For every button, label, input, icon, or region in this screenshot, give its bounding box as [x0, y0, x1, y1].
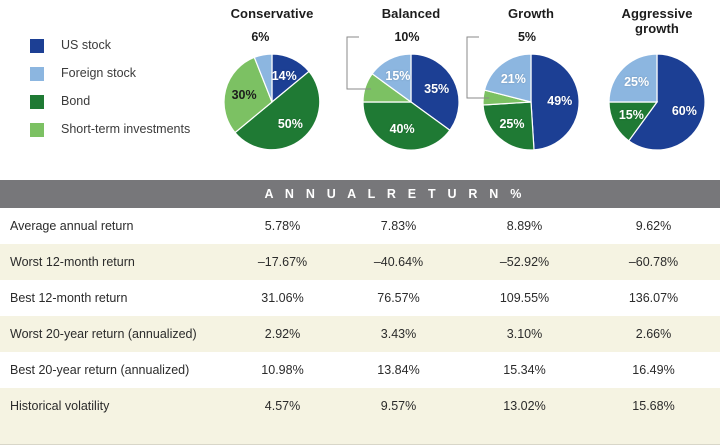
pie-slice-label-2-1: 35%: [424, 82, 449, 96]
legend-item-short_term: Short-term investments: [30, 122, 205, 140]
table-cell-4-2: 3.43%: [335, 327, 462, 341]
table-body: Average annual return5.78%7.83%8.89%9.62…: [0, 208, 720, 424]
pie-slice-label-2-3: 10%: [394, 30, 419, 44]
pie-svg-4: [607, 52, 707, 152]
table-cell-1-1: 5.78%: [230, 219, 335, 233]
table-row-label: Historical volatility: [0, 399, 230, 413]
pie-slice-label-1-4: 6%: [251, 30, 269, 44]
table-cell-1-3: 8.89%: [462, 219, 587, 233]
pie-slice-label-4-3: 25%: [624, 75, 649, 89]
pie-title-1: Conservative: [213, 0, 331, 21]
table-cell-2-2: –40.64%: [335, 255, 462, 269]
pie-slice-label-2-2: 40%: [390, 122, 415, 136]
table-cell-4-1: 2.92%: [230, 327, 335, 341]
table-cell-6-4: 15.68%: [587, 399, 720, 413]
legend-item-us_stock: US stock: [30, 38, 205, 56]
table-row-label: Average annual return: [0, 219, 230, 233]
table-cell-3-2: 76.57%: [335, 291, 462, 305]
table-row-label: Worst 20-year return (annualized): [0, 327, 230, 341]
pie-slice-label-4-1: 60%: [672, 104, 697, 118]
table-cell-6-2: 9.57%: [335, 399, 462, 413]
table-row: Best 12-month return31.06%76.57%109.55%1…: [0, 280, 720, 316]
table-cell-3-4: 136.07%: [587, 291, 720, 305]
legend-label-us_stock: US stock: [61, 38, 111, 53]
legend-swatch-bond: [30, 95, 44, 109]
asset-class-legend: US stockForeign stockBondShort-term inve…: [30, 38, 205, 150]
pie-chart-4: Aggressive growth60%15%25%: [598, 0, 716, 36]
table-cell-5-1: 10.98%: [230, 363, 335, 377]
legend-swatch-short_term: [30, 123, 44, 137]
pie-canvas-3: 49%25%5%21%: [481, 52, 581, 152]
pie-slice-label-3-4: 21%: [501, 72, 526, 86]
table-cell-1-2: 7.83%: [335, 219, 462, 233]
pie-slice-label-3-1: 49%: [547, 94, 572, 108]
pie-slice-label-1-3: 30%: [232, 88, 257, 102]
table-cell-5-3: 15.34%: [462, 363, 587, 377]
table-row-label: Best 20-year return (annualized): [0, 363, 230, 377]
table-row-label: Worst 12-month return: [0, 255, 230, 269]
legend-item-foreign_stock: Foreign stock: [30, 66, 205, 84]
table-header-bar: A N N U A L R E T U R N %: [0, 180, 720, 208]
table-cell-3-1: 31.06%: [230, 291, 335, 305]
table-row: Average annual return5.78%7.83%8.89%9.62…: [0, 208, 720, 244]
pie-slice-label-3-2: 25%: [499, 117, 524, 131]
pie-slice-label-4-2: 15%: [619, 108, 644, 122]
pie-svg-2: [361, 52, 461, 152]
table-row-label: Best 12-month return: [0, 291, 230, 305]
pie-svg-1: [222, 52, 322, 152]
annual-return-table: A N N U A L R E T U R N % Average annual…: [0, 180, 720, 445]
pie-slice-label-3-3: 5%: [518, 30, 536, 44]
table-row: Best 20-year return (annualized)10.98%13…: [0, 352, 720, 388]
table-cell-2-4: –60.78%: [587, 255, 720, 269]
table-cell-6-3: 13.02%: [462, 399, 587, 413]
legend-swatch-us_stock: [30, 39, 44, 53]
legend-item-bond: Bond: [30, 94, 205, 112]
table-bottom-strip: [0, 424, 720, 445]
table-row: Historical volatility4.57%9.57%13.02%15.…: [0, 388, 720, 424]
table-cell-1-4: 9.62%: [587, 219, 720, 233]
pie-slice-label-1-2: 50%: [278, 117, 303, 131]
table-cell-5-2: 13.84%: [335, 363, 462, 377]
table-cell-4-4: 2.66%: [587, 327, 720, 341]
table-cell-2-3: –52.92%: [462, 255, 587, 269]
table-cell-2-1: –17.67%: [230, 255, 335, 269]
legend-swatch-foreign_stock: [30, 67, 44, 81]
table-cell-3-3: 109.55%: [462, 291, 587, 305]
pie-canvas-1: 14%50%30%6%: [222, 52, 322, 152]
table-row: Worst 20-year return (annualized)2.92%3.…: [0, 316, 720, 352]
allocation-charts-area: US stockForeign stockBondShort-term inve…: [0, 0, 720, 176]
pie-chart-2: Balanced35%40%10%15%: [352, 0, 470, 21]
table-cell-4-3: 3.10%: [462, 327, 587, 341]
pie-slice-label-2-4: 15%: [385, 69, 410, 83]
pie-chart-3: Growth49%25%5%21%: [472, 0, 590, 21]
pie-title-2: Balanced: [352, 0, 470, 21]
pie-canvas-2: 35%40%10%15%: [361, 52, 461, 152]
pie-chart-1: Conservative14%50%30%6%: [213, 0, 331, 21]
pie-title-3: Growth: [472, 0, 590, 21]
table-cell-6-1: 4.57%: [230, 399, 335, 413]
legend-label-short_term: Short-term investments: [61, 122, 190, 137]
pie-canvas-4: 60%15%25%: [607, 52, 707, 152]
table-header-title: A N N U A L R E T U R N %: [194, 187, 525, 201]
legend-label-foreign_stock: Foreign stock: [61, 66, 136, 81]
pie-title-4: Aggressive growth: [598, 0, 716, 36]
table-cell-5-4: 16.49%: [587, 363, 720, 377]
table-row: Worst 12-month return–17.67%–40.64%–52.9…: [0, 244, 720, 280]
legend-label-bond: Bond: [61, 94, 90, 109]
pie-slice-label-1-1: 14%: [272, 69, 297, 83]
